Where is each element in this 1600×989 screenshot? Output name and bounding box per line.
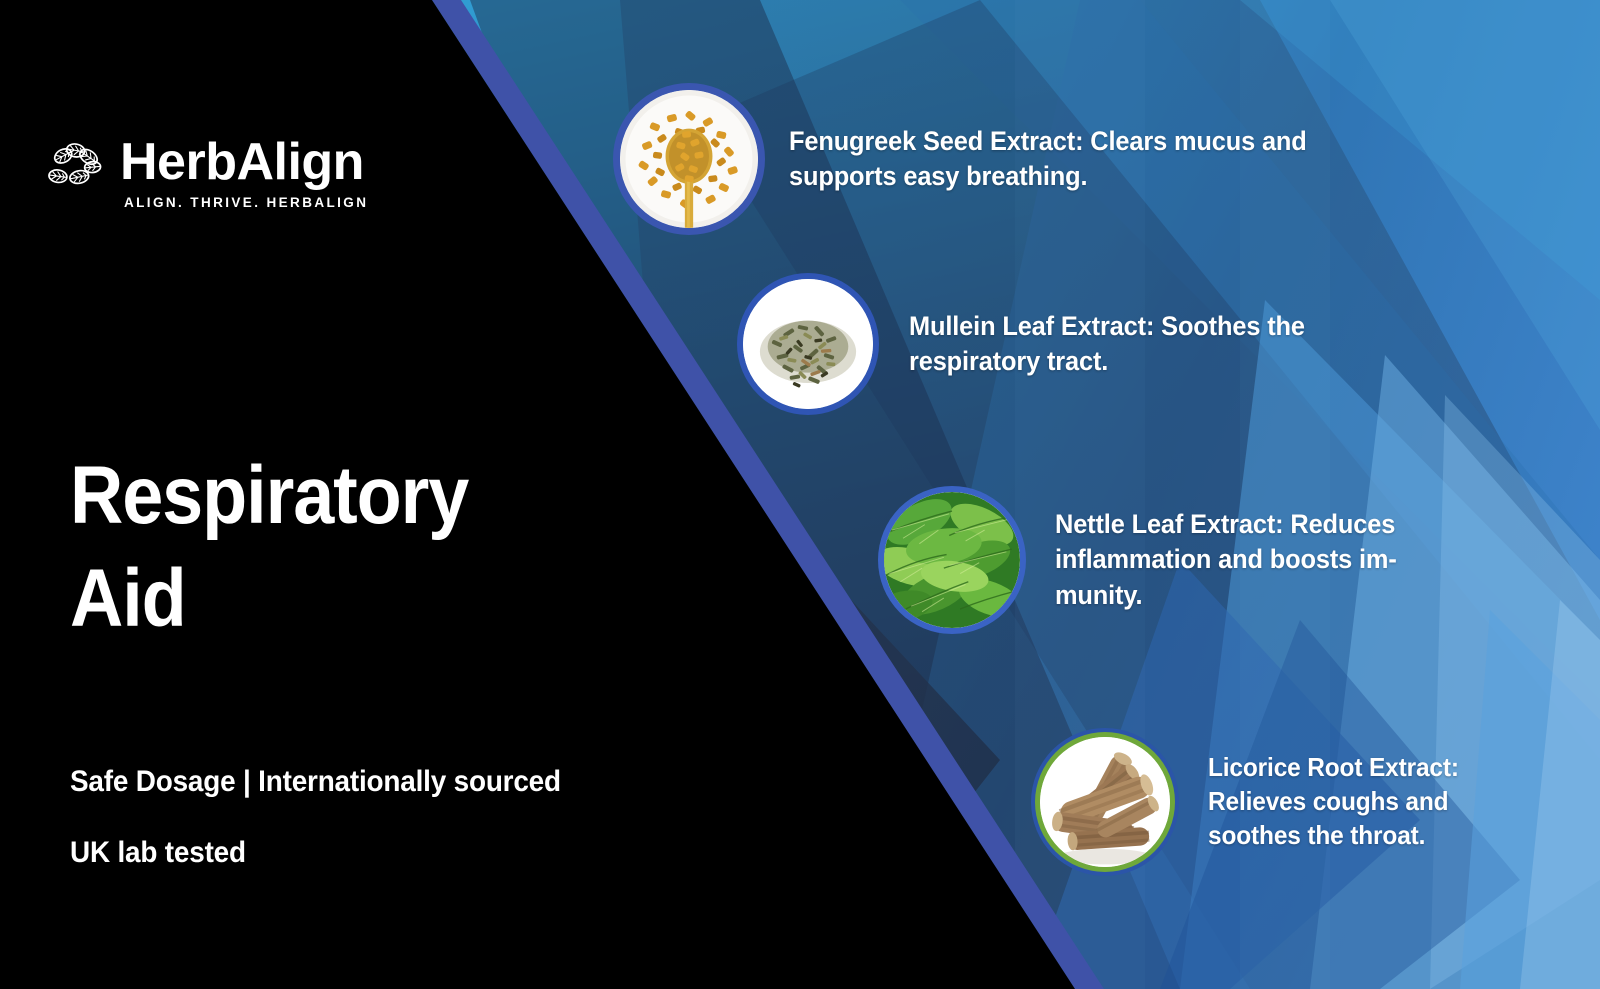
ingredient-row-nettle[interactable]: Nettle Leaf Extract: Reduces inflammatio… (884, 492, 1475, 628)
fenugreek-seeds-image (620, 90, 758, 228)
ingredient-description-licorice: Licorice Root Extract: Relieves coughs a… (1208, 751, 1509, 852)
ingredient-thumbnail-licorice[interactable] (1040, 737, 1170, 867)
ingredient-thumbnail-nettle[interactable] (884, 492, 1020, 628)
ingredient-description-fenugreek: Fenugreek Seed Extract: Clears mucus and… (789, 124, 1315, 194)
nettle-leaf-image (884, 492, 1020, 628)
ingredient-description-nettle: Nettle Leaf Extract: Reduces inflammatio… (1055, 507, 1450, 612)
ingredient-row-mullein[interactable]: Mullein Leaf Extract: Soothes the respir… (743, 279, 1409, 409)
infographic-canvas: HerbAlign ALIGN. THRIVE. HERBALIGN Respi… (0, 0, 1600, 989)
licorice-root-image (1040, 737, 1170, 867)
mullein-leaf-image (743, 279, 873, 409)
ingredient-row-fenugreek[interactable]: Fenugreek Seed Extract: Clears mucus and… (620, 90, 1349, 228)
ingredient-row-licorice[interactable]: Licorice Root Extract: Relieves coughs a… (1040, 737, 1528, 867)
ingredient-thumbnail-fenugreek[interactable] (620, 90, 758, 228)
ingredient-thumbnail-mullein[interactable] (743, 279, 873, 409)
ingredient-description-mullein: Mullein Leaf Extract: Soothes the respir… (909, 309, 1379, 379)
